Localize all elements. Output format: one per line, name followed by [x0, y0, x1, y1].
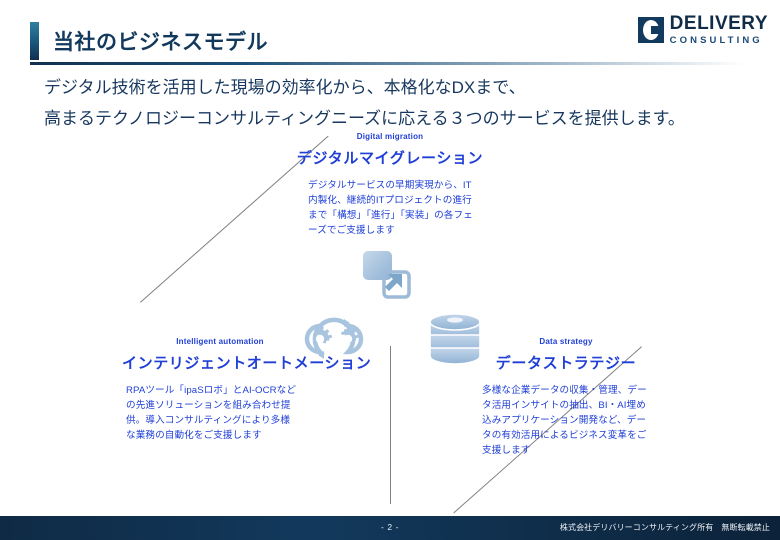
delivery-c-mark-icon — [638, 17, 664, 43]
slide-root: DELIVERY CONSULTING 当社のビジネスモデル デジタル技術を活用… — [0, 0, 780, 540]
slide-footer: - 2 - 株式会社デリバリーコンサルティング所有 無断転載禁止 — [0, 516, 780, 540]
company-logo: DELIVERY CONSULTING — [638, 14, 768, 46]
service-block-data: Data strategy データストラテジー 多様な企業データの収集・管理、デ… — [468, 337, 664, 458]
lead-line-2: 高まるテクノロジーコンサルティングニーズに応える３つのサービスを提供します。 — [44, 103, 750, 134]
divider-stem — [390, 346, 391, 504]
service-jp-title: デジタルマイグレーション — [290, 147, 490, 168]
title-underline-rule — [30, 62, 746, 65]
page-title: 当社のビジネスモデル — [30, 22, 268, 60]
service-description: 多様な企業データの収集・管理、データ活用インサイトの抽出、BI・AI埋め込みアプ… — [482, 383, 654, 458]
logo-wordmark: DELIVERY CONSULTING — [670, 14, 768, 46]
service-en-label: Data strategy — [468, 337, 664, 346]
service-block-automation: Intelligent automation インテリジェントオートメーション … — [122, 337, 318, 443]
copyright-notice: 株式会社デリバリーコンサルティング所有 無断転載禁止 — [560, 522, 770, 533]
title-accent-bar — [30, 22, 39, 60]
logo-secondary-text: CONSULTING — [670, 36, 768, 46]
service-description: RPAツール「ipaSロボ」とAI-OCRなどの先進ソリューションを組み合わせ提… — [126, 383, 298, 443]
lead-line-1: デジタル技術を活用した現場の効率化から、本格化なDXまで、 — [44, 72, 750, 103]
migration-icon — [358, 248, 422, 309]
logo-primary-text: DELIVERY — [670, 14, 768, 33]
lead-paragraph: デジタル技術を活用した現場の効率化から、本格化なDXまで、 高まるテクノロジーコ… — [44, 72, 750, 134]
page-title-text: 当社のビジネスモデル — [53, 26, 268, 56]
business-model-diagram: Digital migration デジタルマイグレーション デジタルサービスの… — [0, 132, 780, 504]
service-description: デジタルサービスの早期実現から、IT内製化、継続的ITプロジェクトの進行まで「構… — [308, 178, 478, 238]
service-jp-title: インテリジェントオートメーション — [122, 352, 318, 373]
service-en-label: Intelligent automation — [122, 337, 318, 346]
service-block-migration: Digital migration デジタルマイグレーション デジタルサービスの… — [290, 132, 490, 238]
service-en-label: Digital migration — [290, 132, 490, 141]
service-jp-title: データストラテジー — [468, 352, 664, 373]
